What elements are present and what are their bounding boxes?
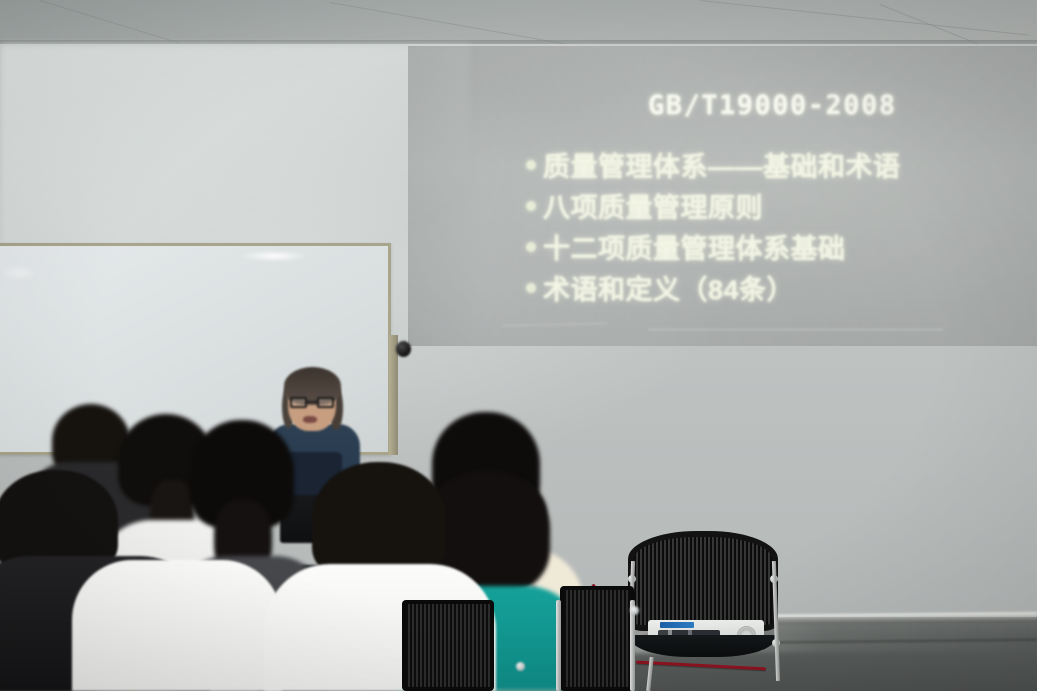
slide-title: GB/T19000-2008 xyxy=(648,90,897,121)
chair-rivet xyxy=(516,662,525,671)
presenter-glasses-icon xyxy=(290,397,334,408)
audience-chair xyxy=(402,600,494,691)
audience-chair xyxy=(560,586,634,691)
whiteboard-glare xyxy=(239,250,309,262)
chair-rivet xyxy=(630,606,639,615)
slide-bullet-text: 质量管理体系——基础和术语 xyxy=(543,145,901,184)
bullet-dot-icon xyxy=(526,283,536,293)
slide-divider-line-secondary xyxy=(503,323,608,326)
whiteboard-glare xyxy=(0,266,39,280)
chair-seat xyxy=(630,635,776,657)
projector-indicator xyxy=(660,622,694,628)
bullet-dot-icon xyxy=(526,201,536,211)
slide-bullet-text: 十二项质量管理体系基础 xyxy=(543,227,846,266)
bullet-dot-icon xyxy=(526,160,536,170)
chair-leg xyxy=(772,561,780,681)
presenter-mouth xyxy=(303,416,317,423)
slide-bullet-text: 术语和定义（84条） xyxy=(543,268,794,307)
projector-chair xyxy=(624,531,782,681)
chair-leg xyxy=(556,600,561,691)
slide-bullet-item: 十二项质量管理体系基础 xyxy=(526,226,1036,267)
slide-bullet-item: 术语和定义（84条） xyxy=(526,267,1036,308)
chair-backrest xyxy=(628,531,778,631)
bullet-dot-icon xyxy=(526,242,536,252)
slide-bullet-text: 八项质量管理原则 xyxy=(543,186,763,225)
whiteboard-knob-icon xyxy=(396,341,411,357)
lecture-photo-scene: GB/T19000-2008 质量管理体系——基础和术语 八项质量管理原则 十二… xyxy=(0,0,1037,691)
slide-divider-line xyxy=(648,329,943,330)
slide-bullet-item: 质量管理体系——基础和术语 xyxy=(526,144,1036,185)
slide-bullet-list: 质量管理体系——基础和术语 八项质量管理原则 十二项质量管理体系基础 术语和定义… xyxy=(526,144,1036,308)
slide-bullet-item: 八项质量管理原则 xyxy=(526,185,1036,226)
projected-slide: GB/T19000-2008 质量管理体系——基础和术语 八项质量管理原则 十二… xyxy=(408,46,1037,346)
